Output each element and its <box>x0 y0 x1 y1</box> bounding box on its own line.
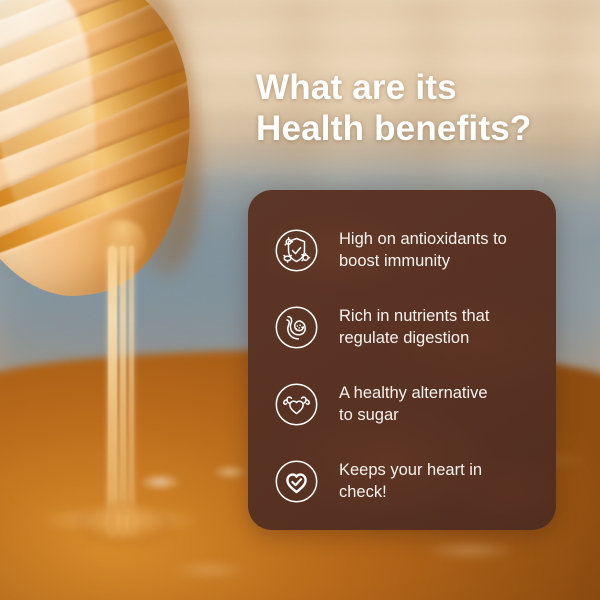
page-title-line-1: What are its <box>256 68 457 107</box>
benefits-card: High on antioxidants to boost immunity <box>248 190 556 530</box>
benefit-item-sugar-alternative: A healthy alternative to sugar <box>274 366 538 443</box>
page-title: What are its Health benefits? <box>256 68 586 149</box>
heart-muscle-icon <box>274 382 319 427</box>
benefit-label: Keeps your heart in check! <box>339 460 482 503</box>
benefit-label: Rich in nutrients that regulate digestio… <box>339 306 489 349</box>
benefit-label-line-2: boost immunity <box>339 252 450 270</box>
benefit-label-line-2: to sugar <box>339 406 399 424</box>
stomach-icon <box>274 305 319 350</box>
honey-drip-stream <box>96 246 150 536</box>
drip-splash <box>74 502 174 548</box>
benefit-label-line-1: Rich in nutrients that <box>339 307 489 325</box>
benefit-item-digestion: Rich in nutrients that regulate digestio… <box>274 289 538 366</box>
page-title-line-2: Health benefits? <box>256 109 586 150</box>
shield-check-icon <box>274 228 319 273</box>
benefit-label: High on antioxidants to boost immunity <box>339 229 507 272</box>
benefits-list: High on antioxidants to boost immunity <box>248 190 556 530</box>
heart-check-icon <box>274 459 319 504</box>
benefit-label-line-1: High on antioxidants to <box>339 230 507 248</box>
honey-benefits-poster: What are its Health benefits? <box>0 0 600 600</box>
benefit-label: A healthy alternative to sugar <box>339 383 488 426</box>
benefit-item-antioxidants: High on antioxidants to boost immunity <box>274 212 538 289</box>
benefit-label-line-2: check! <box>339 483 387 501</box>
benefit-item-heart-health: Keeps your heart in check! <box>274 443 538 520</box>
benefit-label-line-2: regulate digestion <box>339 329 469 347</box>
benefit-label-line-1: A healthy alternative <box>339 384 488 402</box>
benefit-label-line-1: Keeps your heart in <box>339 461 482 479</box>
